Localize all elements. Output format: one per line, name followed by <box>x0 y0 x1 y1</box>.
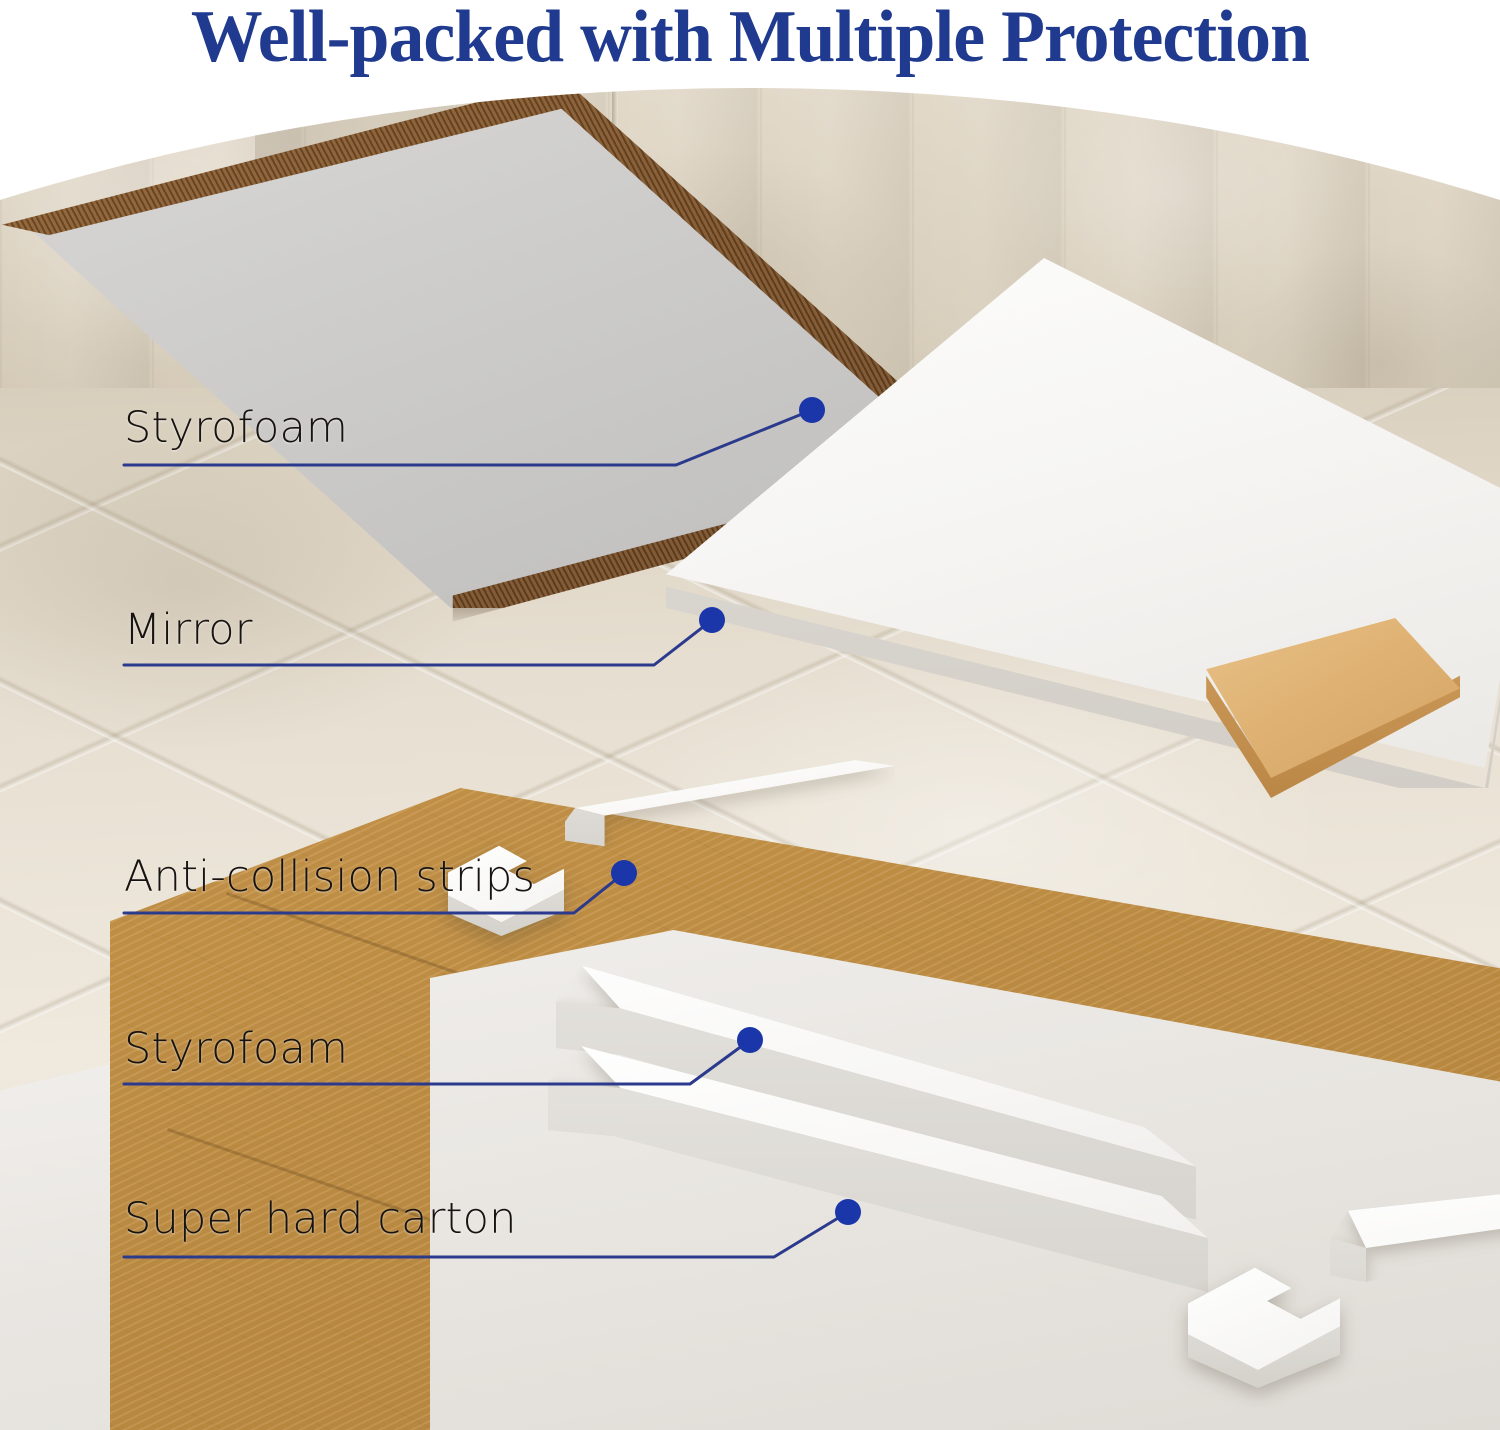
page-title: Well-packed with Multiple Protection <box>23 0 1478 85</box>
foam-corner-block <box>1188 1260 1340 1388</box>
product-photo-stage <box>0 88 1500 1430</box>
foam-corner-block <box>448 840 564 936</box>
infographic-page: Well-packed with Multiple Protection <box>0 0 1500 1430</box>
